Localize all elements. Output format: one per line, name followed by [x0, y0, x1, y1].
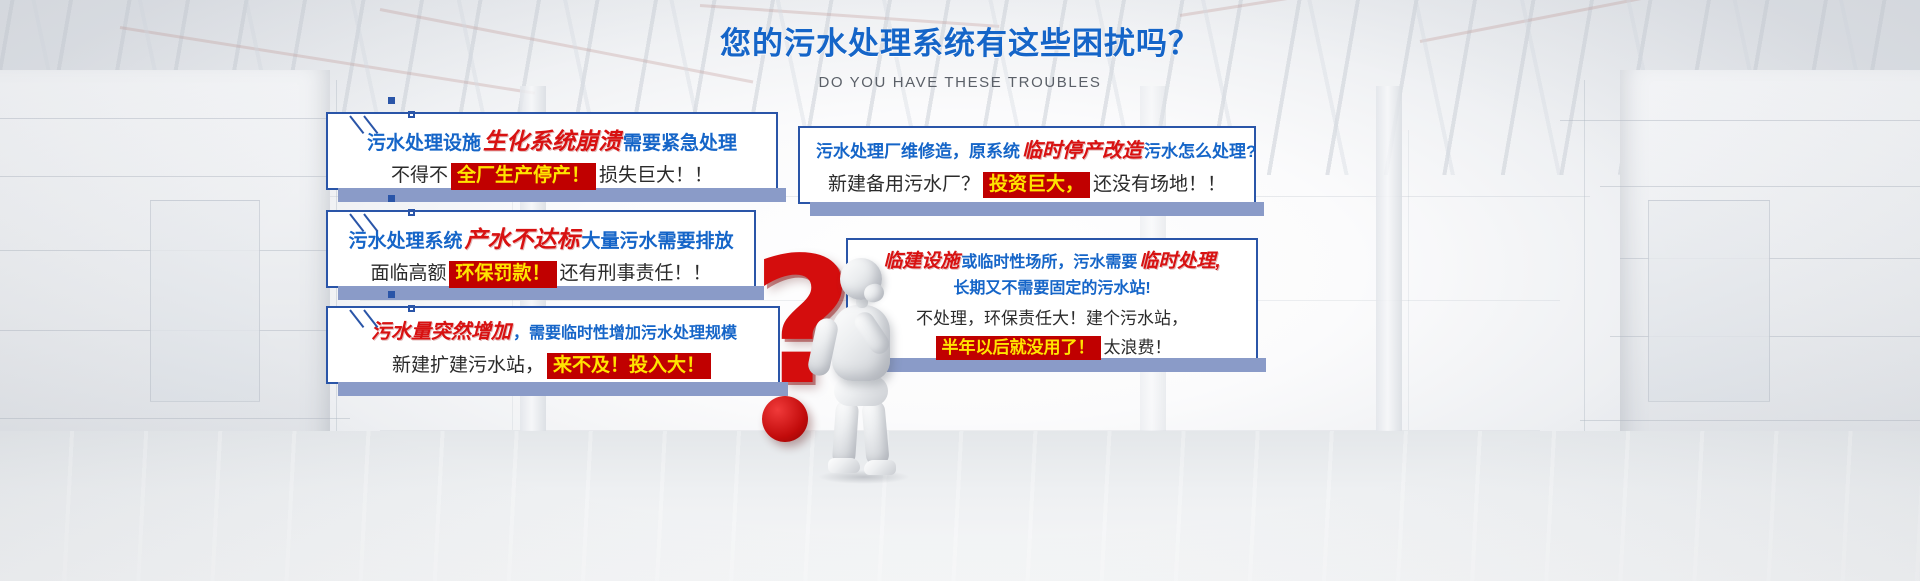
box-line-1: 污水处理厂维修造，原系统临时停产改造污水怎么处理? [816, 137, 1238, 167]
text-segment: 或临时性场所，污水需要 [961, 254, 1137, 271]
figure-leg-right [861, 399, 890, 467]
text-segment: 新建备用污水厂？ [828, 174, 980, 195]
text-segment-highlight: 环保罚款！ [449, 261, 556, 287]
text-segment: 不处理，环保责任大！建个污水站， [916, 309, 1188, 328]
thinking-mannequin-figure [806, 258, 916, 478]
callout-box-plant-maintenance[interactable]: 污水处理厂维修造，原系统临时停产改造污水怎么处理? 新建备用污水厂？投资巨大，还… [798, 126, 1256, 204]
box-line-2: 不得不全厂生产停产！损失巨大！！ [344, 162, 760, 190]
text-segment: 污水处理厂维修造，原系统 [816, 142, 1020, 161]
text-segment: 新建扩建污水站， [392, 355, 544, 376]
text-segment: 面临高额 [370, 263, 446, 284]
box-line-1: 临建设施或临时性场所，污水需要临时处理, [864, 248, 1240, 276]
page-title: 您的污水处理系统有这些困扰吗？ [0, 18, 1920, 63]
callout-box-effluent-substandard[interactable]: 污水处理系统产水不达标大量污水需要排放 面临高额环保罚款！还有刑事责任！！ [326, 210, 756, 288]
box-line-2: 面临高额环保罚款！还有刑事责任！！ [344, 260, 738, 288]
text-segment: 大量污水需要排放 [582, 231, 734, 252]
text-segment-emphasis: 临时处理, [1137, 251, 1222, 272]
text-segment: 需要紧急处理 [623, 133, 737, 154]
box-line-1: 污水处理系统产水不达标大量污水需要排放 [344, 222, 738, 256]
text-segment-emphasis: 生化系统崩溃 [481, 128, 623, 154]
header-block: 您的污水处理系统有这些困扰吗？ DO YOU HAVE THESE TROUBL… [0, 18, 1920, 91]
text-segment: 损失巨大！！ [599, 165, 713, 186]
box-line-2: 新建扩建污水站，来不及！投入大！ [344, 352, 762, 380]
text-segment: 还有刑事责任！！ [560, 263, 712, 284]
text-segment: 污水处理系统 [348, 231, 462, 252]
text-segment: 长期又不需要固定的污水站! [953, 280, 1150, 297]
text-segment-highlight: 半年以后就没用了！ [936, 336, 1101, 360]
box-line-1: 污水量突然增加，需要临时性增加污水处理规模 [344, 318, 762, 348]
text-segment-emphasis: 产水不达标 [463, 226, 582, 252]
callout-box-sudden-volume-increase[interactable]: 污水量突然增加，需要临时性增加污水处理规模 新建扩建污水站，来不及！投入大！ [326, 306, 780, 384]
text-segment: 污水处理设施 [367, 133, 481, 154]
text-segment: ，需要临时性增加污水处理规模 [513, 325, 737, 342]
box-line-2: 新建备用污水厂？投资巨大，还没有场地！！ [816, 171, 1238, 199]
figure-leg-left [832, 399, 860, 466]
page-subtitle: DO YOU HAVE THESE TROUBLES [0, 74, 1920, 91]
box-line-1b: 长期又不需要固定的污水站! [864, 277, 1240, 301]
text-segment-emphasis: 临时停产改造 [1020, 140, 1144, 162]
question-mark-dot-icon [762, 396, 808, 442]
text-segment-emphasis: 污水量突然增加 [369, 321, 513, 343]
text-segment: 太浪费！ [1104, 338, 1172, 357]
figure-foot-right [864, 460, 896, 475]
text-segment: 还没有场地！！ [1093, 174, 1226, 195]
text-segment-highlight: 来不及！投入大！ [547, 353, 711, 379]
text-segment: 污水怎么处理? [1144, 142, 1256, 161]
figure-foot-left [828, 458, 860, 473]
box-line-1: 污水处理设施生化系统崩溃需要紧急处理 [344, 124, 760, 158]
box-line-3: 半年以后就没用了！太浪费！ [864, 335, 1240, 360]
text-segment-highlight: 投资巨大， [983, 172, 1090, 198]
text-segment: 不得不 [391, 165, 448, 186]
text-segment-highlight: 全厂生产停产！ [451, 163, 596, 189]
box-line-2: 不处理，环保责任大！建个污水站， [864, 306, 1240, 331]
callout-box-biochem-collapse[interactable]: 污水处理设施生化系统崩溃需要紧急处理 不得不全厂生产停产！损失巨大！！ [326, 112, 778, 190]
